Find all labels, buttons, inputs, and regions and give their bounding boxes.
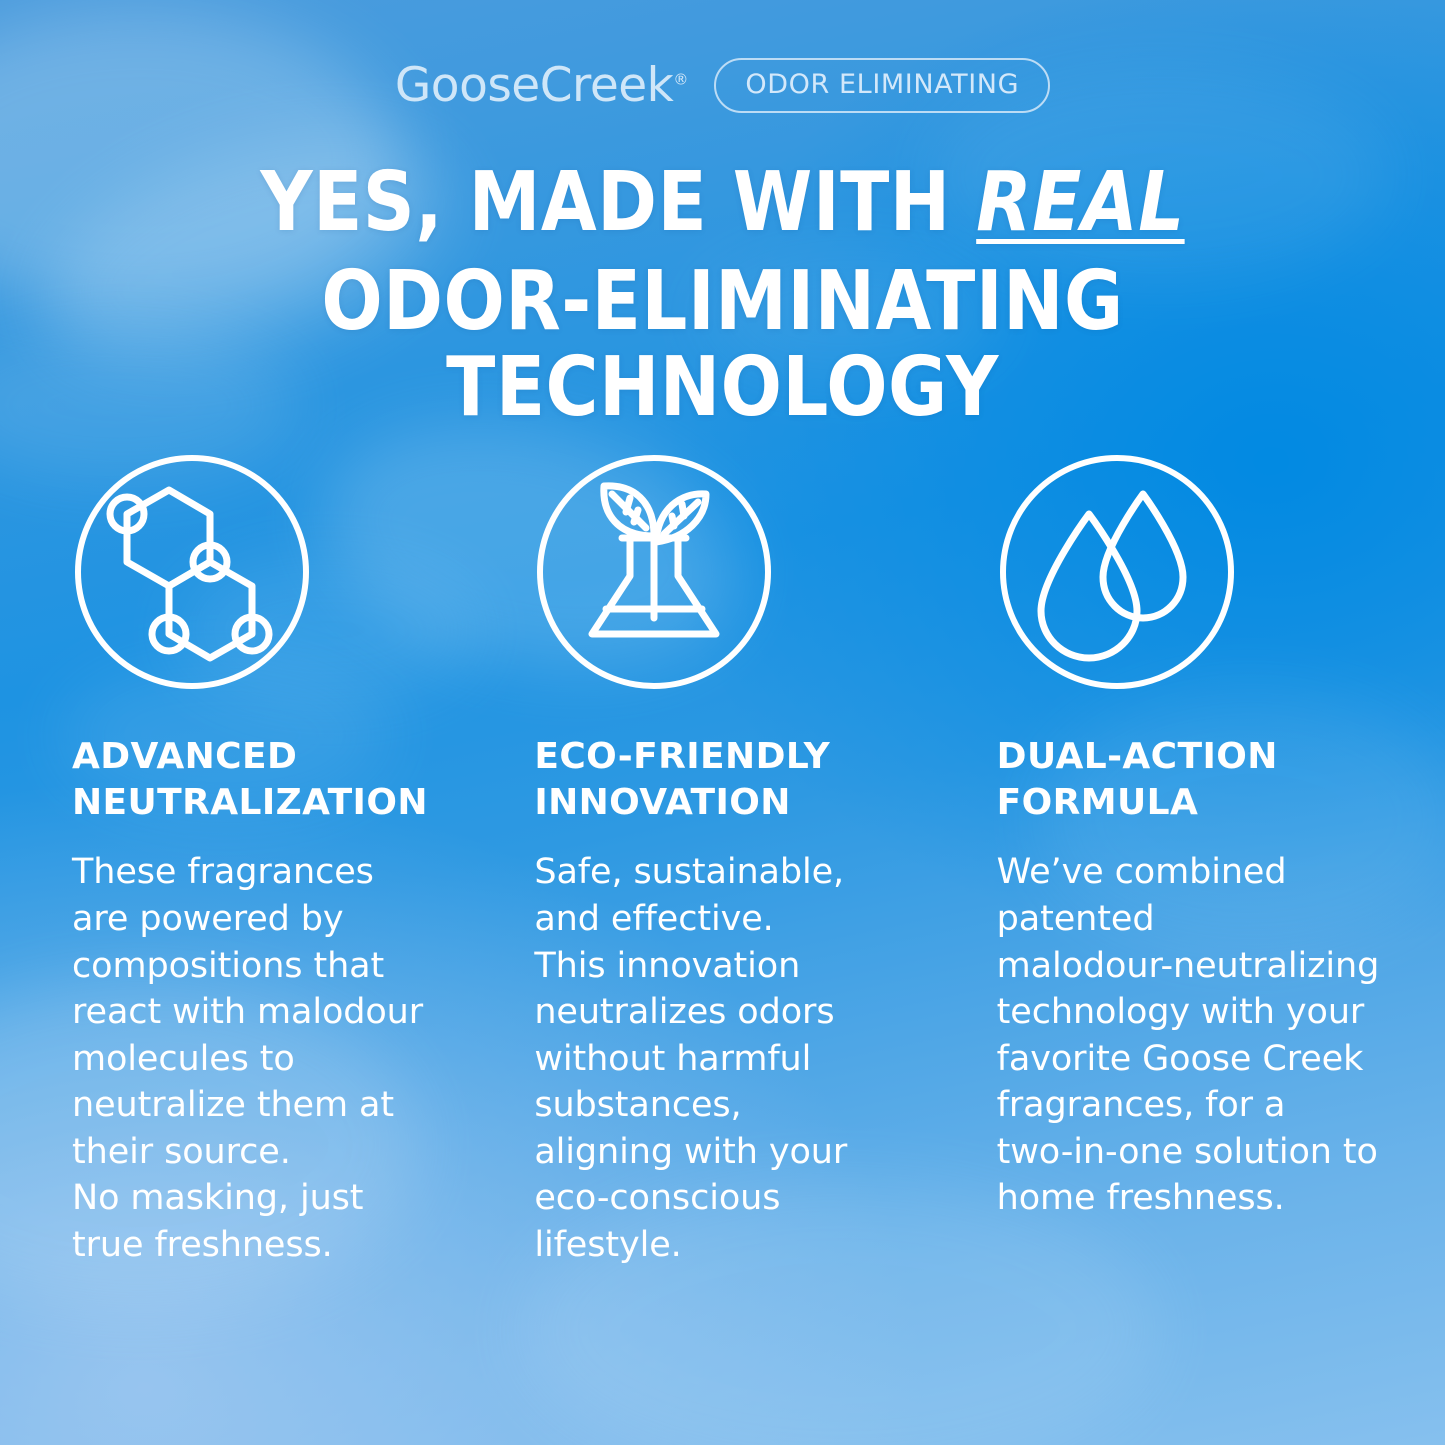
molecule-icon [72,452,312,692]
feature-column-advanced-neutralization: ADVANCED NEUTRALIZATION These fragrances… [72,452,472,1268]
feature-columns: ADVANCED NEUTRALIZATION These fragrances… [72,452,1397,1268]
headline-line-1-text: YES, MADE WITH [260,155,976,250]
promo-graphic: GooseCreek® ODOR ELIMINATING YES, MADE W… [0,0,1445,1445]
feature-body: Safe, sustainable, and effective. This i… [534,849,934,1268]
feature-column-eco-friendly-innovation: ECO-FRIENDLY INNOVATION Safe, sustainabl… [534,452,934,1268]
feature-body: These fragrances are powered by composit… [72,849,472,1268]
headline-emphasis-real: REAL [976,155,1184,250]
registered-trademark-icon: ® [673,70,688,88]
headline: YES, MADE WITH REAL ODOR-ELIMINATING TEC… [0,160,1445,430]
water-drops-icon [997,452,1237,692]
brand-header: GooseCreek® ODOR ELIMINATING [0,58,1445,113]
feature-body: We’ve combined patented malodour-neutral… [997,849,1397,1221]
feature-title: DUAL-ACTION FORMULA [997,734,1397,825]
headline-line-1: YES, MADE WITH REAL [87,160,1359,245]
logo-wordmark: GooseCreek [395,58,674,113]
flask-plant-icon [534,452,774,692]
headline-line-2: ODOR-ELIMINATING TECHNOLOGY [87,259,1359,430]
odor-eliminating-badge: ODOR ELIMINATING [714,58,1050,113]
feature-title: ADVANCED NEUTRALIZATION [72,734,472,825]
feature-column-dual-action-formula: DUAL-ACTION FORMULA We’ve combined paten… [997,452,1397,1268]
feature-title: ECO-FRIENDLY INNOVATION [534,734,934,825]
goosecreek-logo: GooseCreek® [395,62,689,109]
